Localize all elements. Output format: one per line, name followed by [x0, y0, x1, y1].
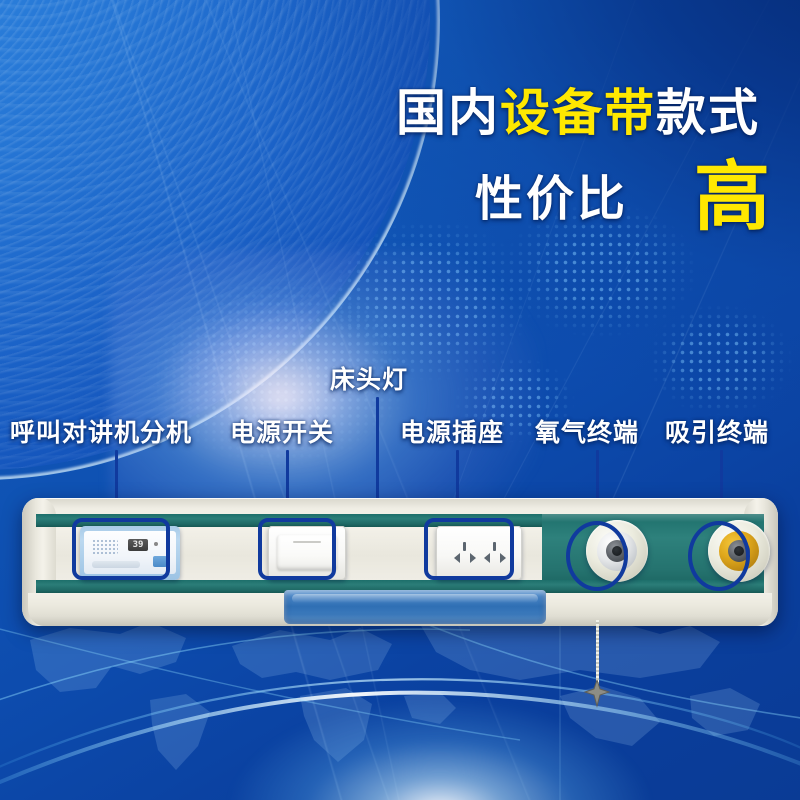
horizon-light-burst — [230, 700, 650, 800]
pull-cord-knob-icon[interactable] — [583, 680, 611, 708]
highlight-box-power-socket — [424, 518, 514, 580]
pull-cord[interactable] — [596, 620, 599, 688]
highlight-circle-oxygen — [566, 521, 628, 591]
callout-label-oxygen-terminal: 氧气终端 — [535, 413, 639, 449]
callout-label-suction-terminal: 吸引终端 — [665, 413, 769, 449]
highlight-box-intercom — [72, 518, 170, 580]
bed-lamp-diffuser[interactable] — [284, 590, 546, 624]
headline-seg-domestic: 国内 — [396, 85, 500, 141]
headline-line-1: 国内设备带款式 — [0, 88, 760, 138]
callout-label-intercom: 呼叫对讲机分机 — [10, 413, 192, 449]
headline-seg-equipment-belt: 设备带 — [500, 85, 656, 141]
callout-label-bed-lamp: 床头灯 — [330, 360, 408, 396]
poster-canvas: 国内设备带款式 性价比高 呼叫对讲机分机 电源开关 床头灯 电源插座 氧气终端 … — [0, 0, 800, 800]
headline-seg-value-ratio: 性价比 — [475, 173, 628, 226]
headline-line-2: 性价比高 — [0, 160, 770, 236]
highlight-circle-suction — [688, 521, 750, 591]
headline-seg-high: 高 — [694, 155, 770, 240]
headline-seg-style: 款式 — [656, 85, 760, 141]
callout-label-power-socket: 电源插座 — [400, 413, 504, 449]
highlight-box-power-switch — [258, 518, 336, 580]
callout-label-power-switch: 电源开关 — [230, 413, 334, 449]
